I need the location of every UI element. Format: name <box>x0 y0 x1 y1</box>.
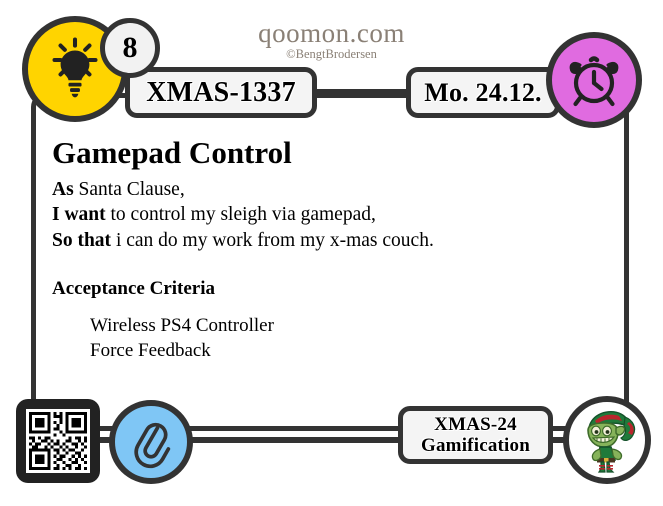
alarm-clock-icon[interactable] <box>546 32 642 128</box>
story-content: Gamepad Control As Santa Clause, I want … <box>52 136 592 364</box>
epic-key-text: XMAS-24 <box>434 415 517 435</box>
elf-avatar-icon[interactable] <box>563 396 651 484</box>
issue-card-canvas: qoomon.com ©BengtBrodersen Gamepad Contr… <box>0 0 663 506</box>
qr-code-icon[interactable] <box>16 399 100 483</box>
issue-key-text: XMAS-1337 <box>146 77 296 109</box>
due-date-label[interactable]: Mo. 24.12. <box>406 67 560 118</box>
story-line-as-keyword: As <box>52 179 74 200</box>
paperclip-icon[interactable] <box>109 400 193 484</box>
connector-attachment-to-epic <box>186 437 408 443</box>
list-item: Force Feedback <box>90 339 592 364</box>
story-line-iwant-text: to control my sleigh via gamepad, <box>106 204 376 225</box>
due-date-text: Mo. 24.12. <box>424 78 542 108</box>
acceptance-criteria-list: Wireless PS4 Controller Force Feedback <box>90 314 592 363</box>
epic-name-text: Gamification <box>421 436 530 456</box>
page-title: Gamepad Control <box>52 136 592 170</box>
story-line-sothat: So that i can do my work from my x-mas c… <box>52 228 592 253</box>
list-item: Wireless PS4 Controller <box>90 314 592 339</box>
story-line-as-text: Santa Clause, <box>74 179 185 200</box>
acceptance-criteria-heading: Acceptance Criteria <box>52 278 592 300</box>
story-line-iwant: I want to control my sleigh via gamepad, <box>52 202 592 227</box>
story-points-badge[interactable]: 8 <box>100 18 160 78</box>
epic-label[interactable]: XMAS-24 Gamification <box>398 406 553 464</box>
story-line-iwant-keyword: I want <box>52 204 106 225</box>
story-line-as: As Santa Clause, <box>52 177 592 202</box>
story-line-sothat-keyword: So that <box>52 230 111 251</box>
issue-key-label[interactable]: XMAS-1337 <box>125 67 317 118</box>
story-points-text: 8 <box>123 31 138 65</box>
story-line-sothat-text: i can do my work from my x-mas couch. <box>111 230 434 251</box>
